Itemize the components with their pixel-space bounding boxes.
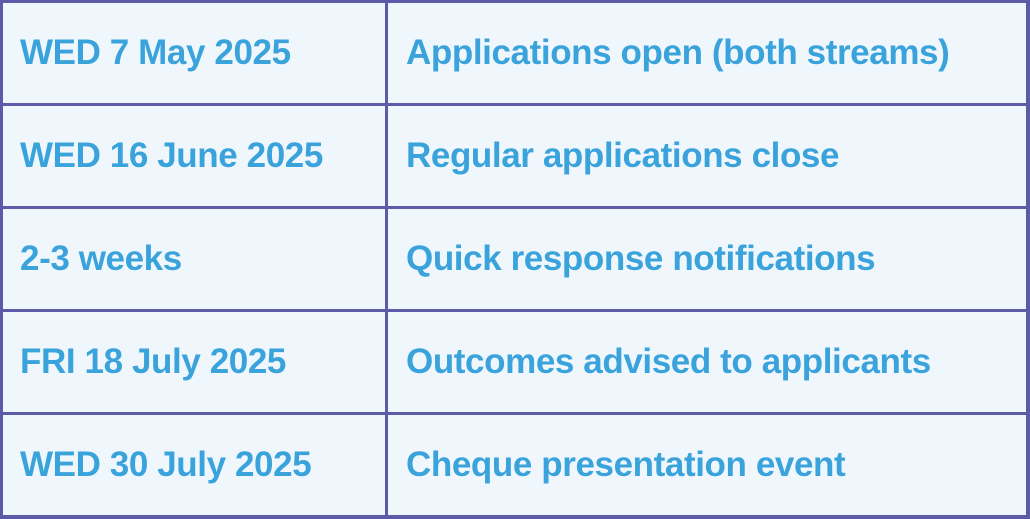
description-text: Quick response notifications bbox=[388, 241, 1026, 278]
table-cell-description: Applications open (both streams) bbox=[387, 2, 1029, 105]
table-row: FRI 18 July 2025 Outcomes advised to app… bbox=[2, 311, 1029, 414]
table-cell-description: Regular applications close bbox=[387, 105, 1029, 208]
table-cell-date: 2-3 weeks bbox=[2, 208, 387, 311]
table-cell-date: WED 30 July 2025 bbox=[2, 414, 387, 518]
date-text: WED 16 June 2025 bbox=[3, 138, 385, 175]
date-text: WED 7 May 2025 bbox=[3, 35, 385, 72]
date-text: 2-3 weeks bbox=[3, 241, 385, 278]
key-dates-table: WED 7 May 2025 Applications open (both s… bbox=[0, 0, 1030, 519]
table-cell-description: Cheque presentation event bbox=[387, 414, 1029, 518]
table-cell-date: WED 7 May 2025 bbox=[2, 2, 387, 105]
date-text: FRI 18 July 2025 bbox=[3, 344, 385, 381]
table-cell-description: Outcomes advised to applicants bbox=[387, 311, 1029, 414]
table-cell-date: WED 16 June 2025 bbox=[2, 105, 387, 208]
table-row: WED 30 July 2025 Cheque presentation eve… bbox=[2, 414, 1029, 518]
description-text: Regular applications close bbox=[388, 138, 1026, 175]
table-cell-date: FRI 18 July 2025 bbox=[2, 311, 387, 414]
description-text: Applications open (both streams) bbox=[388, 35, 1026, 72]
description-text: Cheque presentation event bbox=[388, 447, 1026, 484]
table-row: WED 16 June 2025 Regular applications cl… bbox=[2, 105, 1029, 208]
table-row: 2-3 weeks Quick response notifications bbox=[2, 208, 1029, 311]
date-text: WED 30 July 2025 bbox=[3, 447, 385, 484]
table-row: WED 7 May 2025 Applications open (both s… bbox=[2, 2, 1029, 105]
table-cell-description: Quick response notifications bbox=[387, 208, 1029, 311]
description-text: Outcomes advised to applicants bbox=[388, 344, 1026, 381]
